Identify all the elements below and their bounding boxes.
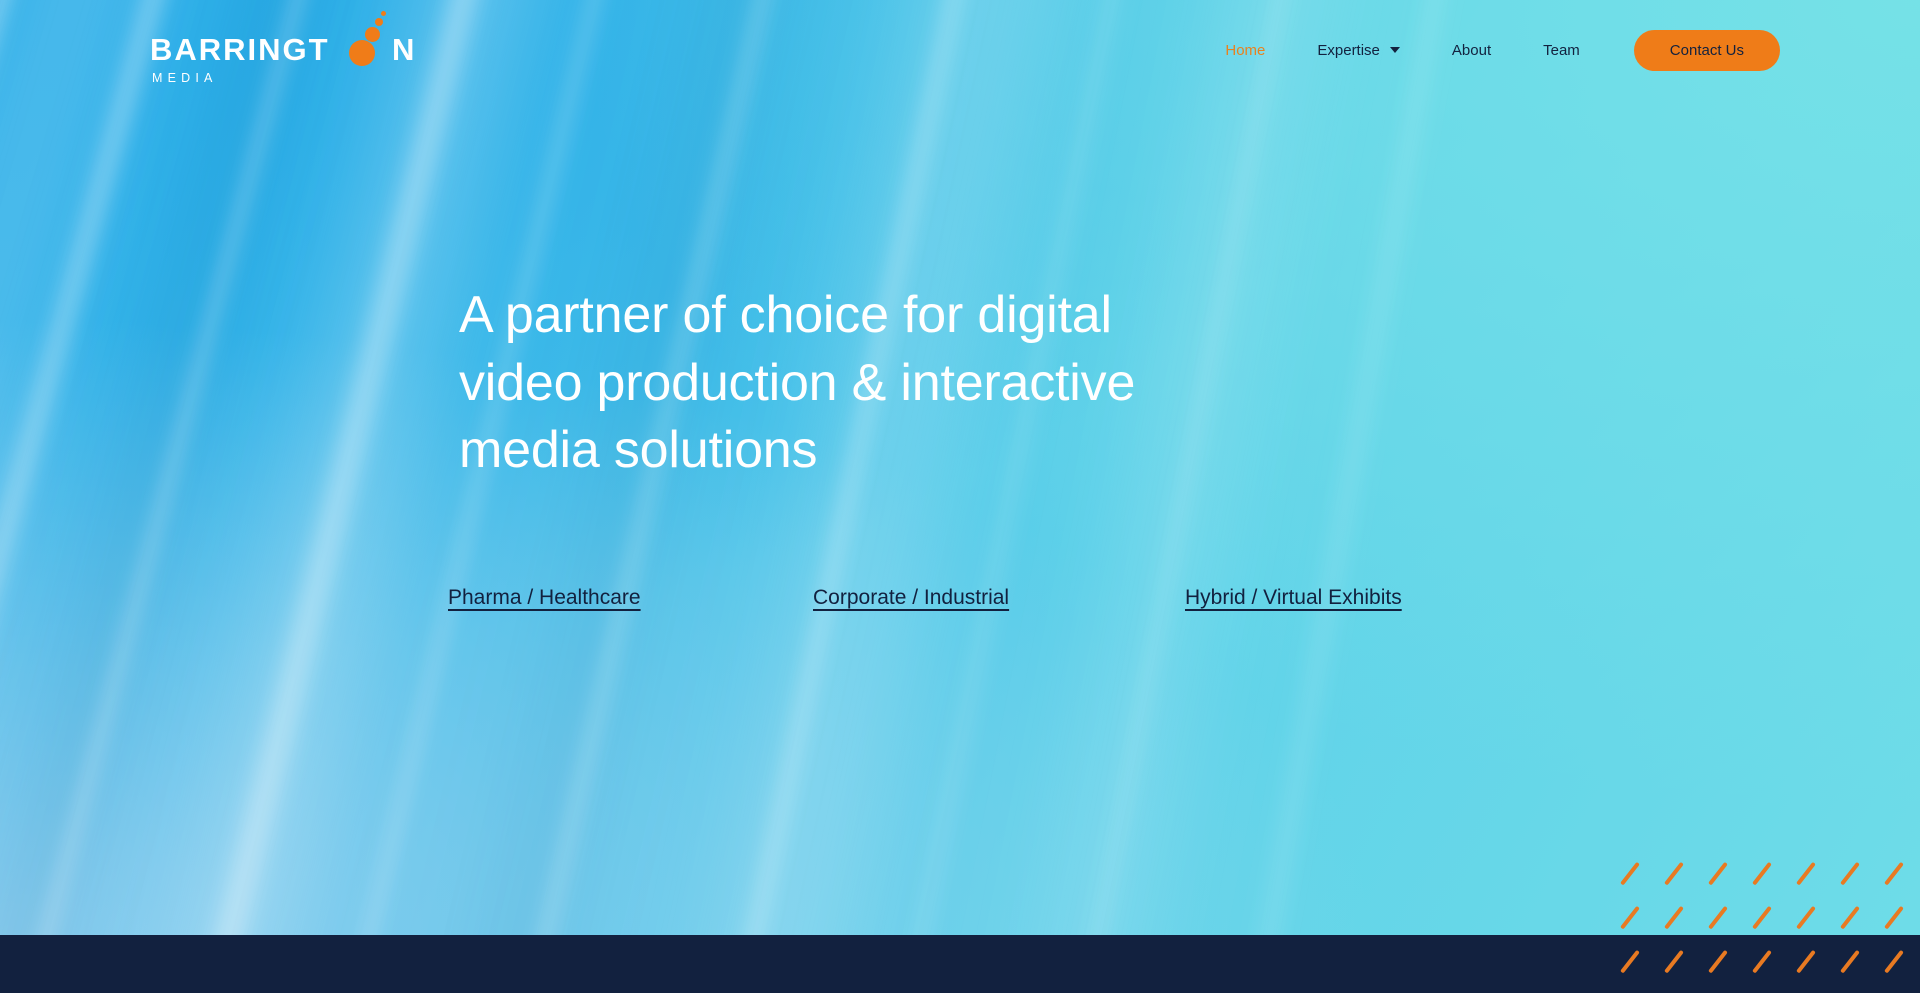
logo-bubble-tiny-icon (381, 11, 386, 16)
nav-item-home[interactable]: Home (1199, 43, 1291, 58)
nav-item-expertise[interactable]: Expertise (1291, 43, 1426, 58)
page-root: BARRINGT N MEDIA Home Expertise About Te… (0, 0, 1920, 993)
logo-subtitle: MEDIA (152, 72, 218, 85)
hero-content: A partner of choice for digital video pr… (459, 282, 1359, 485)
contact-us-button[interactable]: Contact Us (1634, 30, 1780, 71)
logo-wordmark: BARRINGT (150, 34, 330, 65)
site-logo[interactable]: BARRINGT N MEDIA (150, 12, 420, 90)
service-link-pharma-healthcare[interactable]: Pharma / Healthcare (448, 586, 641, 609)
logo-bubble-large-icon (349, 40, 375, 66)
logo-wordmark-tail: N (392, 34, 416, 65)
hero-headline-line-3: media solutions (459, 417, 1359, 485)
hero-headline: A partner of choice for digital video pr… (459, 282, 1359, 485)
service-link-hybrid-virtual-exhibits[interactable]: Hybrid / Virtual Exhibits (1185, 586, 1402, 609)
nav-item-about[interactable]: About (1426, 43, 1517, 58)
primary-navigation: Home Expertise About Team Contact Us (1199, 0, 1780, 100)
hero-service-links: Pharma / Healthcare Corporate / Industri… (448, 586, 1402, 610)
footer-band (0, 935, 1920, 993)
hero-headline-line-1: A partner of choice for digital (459, 282, 1359, 350)
chevron-down-icon (1390, 47, 1400, 53)
logo-bubble-medium-icon (365, 27, 380, 42)
nav-item-expertise-label: Expertise (1317, 43, 1380, 58)
logo-bubble-small-icon (375, 18, 383, 26)
service-link-corporate-industrial[interactable]: Corporate / Industrial (813, 586, 1009, 609)
site-header: BARRINGT N MEDIA Home Expertise About Te… (0, 0, 1920, 100)
hero-headline-line-2: video production & interactive (459, 350, 1359, 418)
nav-item-team[interactable]: Team (1517, 43, 1606, 58)
